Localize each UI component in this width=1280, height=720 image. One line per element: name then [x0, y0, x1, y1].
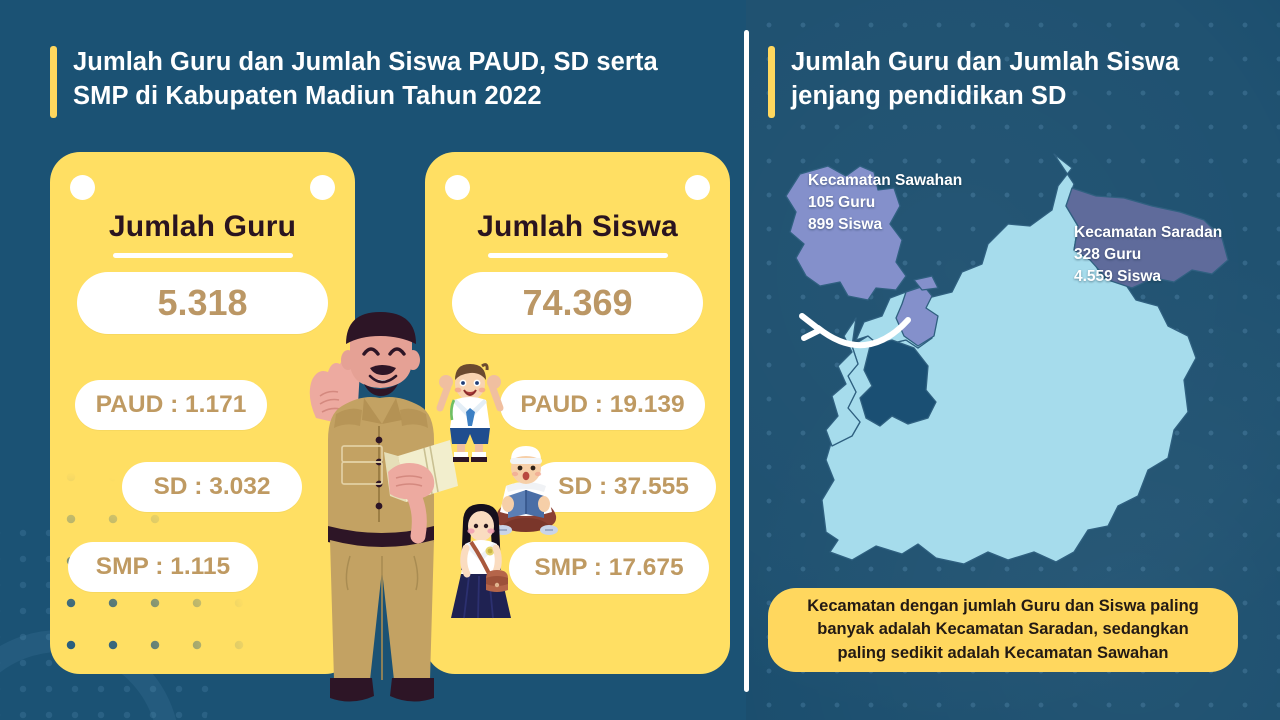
card-guru-row-smp: SMP : 1.115: [68, 542, 258, 592]
left-title-block: Jumlah Guru dan Jumlah Siswa PAUD, SD se…: [50, 46, 658, 118]
summary-note-box: Kecamatan dengan jumlah Guru dan Siswa p…: [768, 588, 1238, 672]
panel-divider: [744, 30, 749, 692]
card-guru-heading: Jumlah Guru: [50, 210, 355, 244]
card-siswa-row-paud: PAUD : 19.139: [500, 380, 705, 430]
summary-note-text: Kecamatan dengan jumlah Guru dan Siswa p…: [807, 595, 1199, 665]
punch-hole-right: [310, 175, 335, 200]
card-siswa-heading: Jumlah Siswa: [425, 210, 730, 244]
punch-hole-right: [685, 175, 710, 200]
student-girl-illustration: [441, 498, 521, 622]
card-siswa-row-smp: SMP : 17.675: [509, 542, 709, 594]
card-siswa-total: 74.369: [452, 272, 703, 334]
right-title-text: Jumlah Guru dan Jumlah Siswa jenjang pen…: [791, 46, 1179, 114]
punch-hole-left: [70, 175, 95, 200]
left-title-text: Jumlah Guru dan Jumlah Siswa PAUD, SD se…: [73, 46, 658, 114]
right-title-block: Jumlah Guru dan Jumlah Siswa jenjang pen…: [768, 46, 1179, 118]
title-accent-bar: [50, 46, 57, 118]
punch-hole-left: [445, 175, 470, 200]
map-label-saradan: Kecamatan Saradan 328 Guru 4.559 Siswa: [1074, 222, 1222, 288]
infographic-canvas: Jumlah Guru dan Jumlah Siswa PAUD, SD se…: [0, 0, 1280, 720]
card-guru-rule: [113, 253, 293, 258]
title-accent-bar: [768, 46, 775, 118]
card-guru-row-paud: PAUD : 1.171: [75, 380, 267, 430]
card-siswa-rule: [488, 253, 668, 258]
map-label-sawahan: Kecamatan Sawahan 105 Guru 899 Siswa: [808, 170, 962, 236]
